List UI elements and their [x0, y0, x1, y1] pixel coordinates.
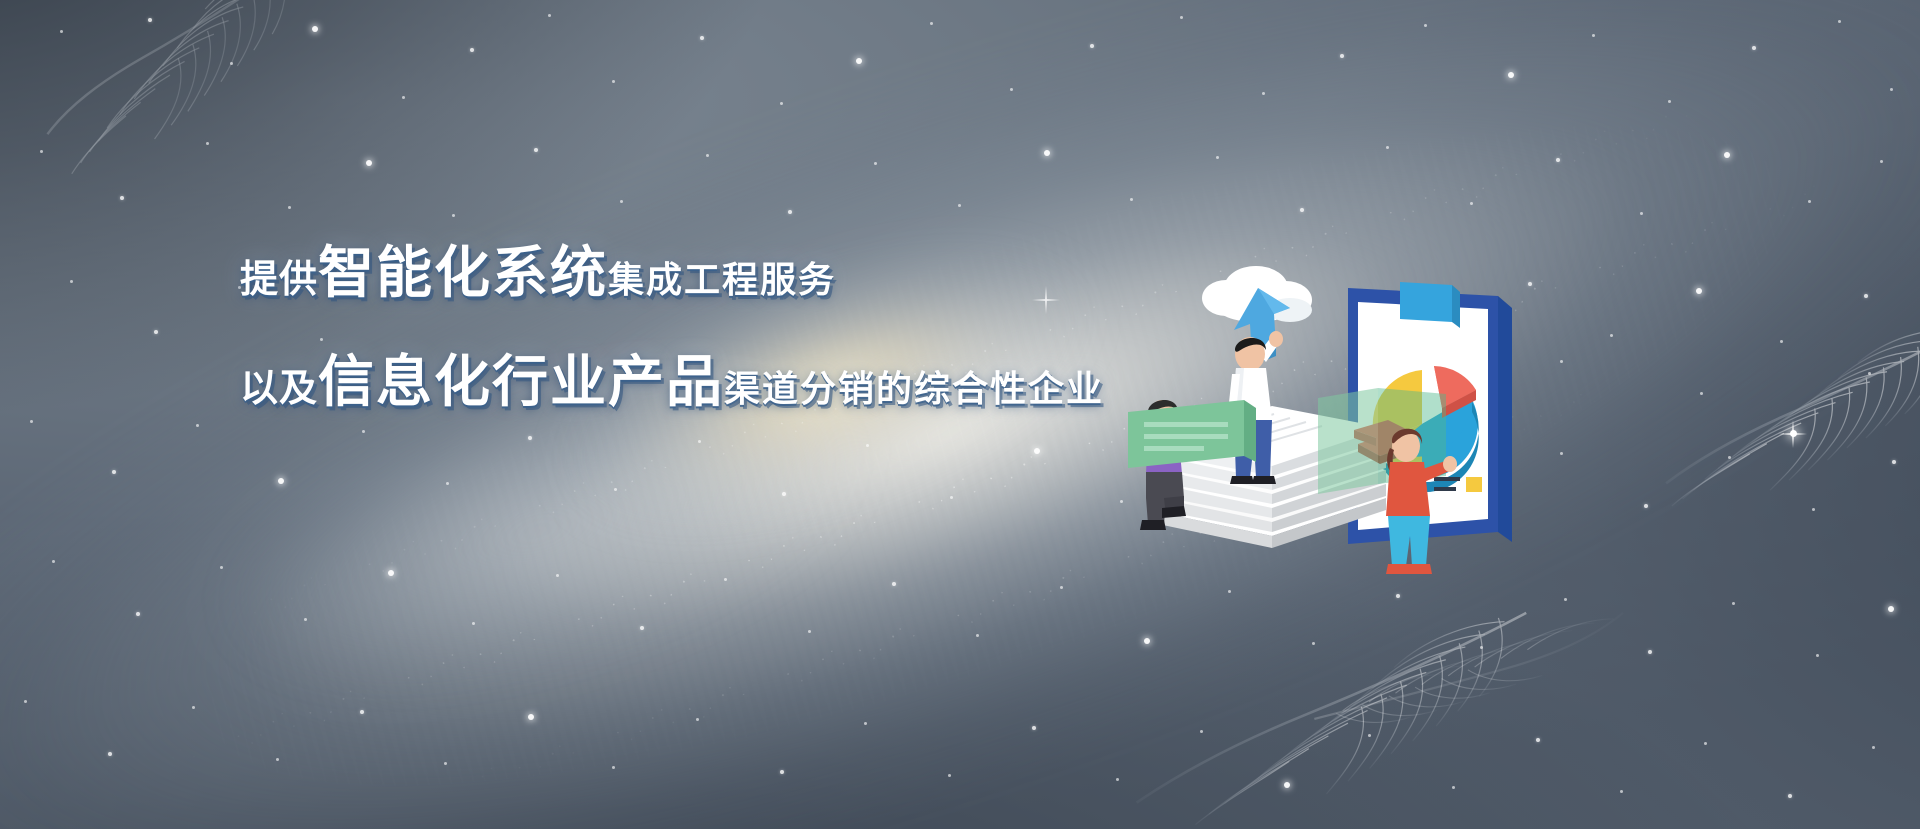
seated-person-shoe-2	[1162, 506, 1186, 518]
pointing-person-shoe-right	[1408, 564, 1432, 574]
note-line-3	[1144, 446, 1204, 451]
headline-line2-segment-1: 以及	[240, 357, 318, 412]
note-line-2	[1144, 434, 1228, 439]
standing-person-shoe-right	[1252, 476, 1276, 484]
pointing-person-hand	[1443, 456, 1457, 472]
hero-banner: 提供智能化系统集成工程服务 以及信息化行业产品渠道分销的综合性企业	[0, 0, 1920, 829]
standing-person-shoe-left	[1230, 476, 1254, 484]
headline-line-1: 提供智能化系统集成工程服务	[240, 228, 1300, 309]
headline-line1-segment-2: 智能化系统	[318, 228, 608, 309]
feather-right-icon	[1633, 283, 1920, 566]
headline-line-2: 以及信息化行业产品渠道分销的综合性企业	[240, 337, 1300, 418]
pointing-person	[1362, 420, 1472, 580]
headline-line2-segment-2: 信息化行业产品	[318, 337, 724, 418]
clipboard-side-depth	[1498, 296, 1512, 542]
seated-person-shoe	[1140, 520, 1166, 530]
feather-top-left-icon	[19, 0, 341, 205]
pointing-person-trousers	[1388, 516, 1430, 566]
headline-line1-segment-1: 提供	[240, 248, 318, 303]
note-line-1	[1144, 422, 1228, 427]
headline-line2-segment-3: 渠道分销的综合性企业	[724, 360, 1104, 412]
headline-line1-segment-3: 集成工程服务	[608, 251, 836, 303]
pointing-person-shoe-left	[1386, 564, 1412, 574]
headline-block: 提供智能化系统集成工程服务 以及信息化行业产品渠道分销的综合性企业	[240, 228, 1300, 418]
